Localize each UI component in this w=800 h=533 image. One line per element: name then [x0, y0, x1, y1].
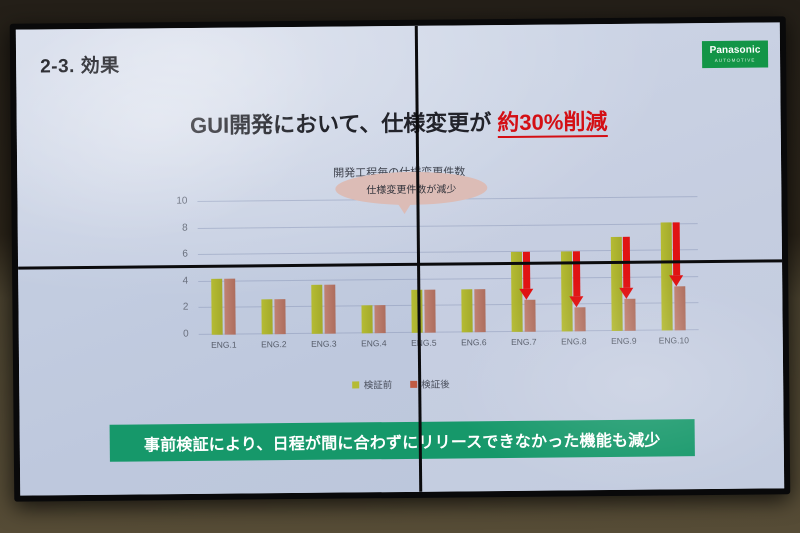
bar-after [574, 307, 585, 331]
bar-before [311, 285, 322, 334]
headline-accent-text: 約30%削減 [497, 109, 607, 138]
bar-after [424, 290, 435, 333]
x-axis-tick-label: ENG.6 [461, 337, 487, 347]
bar-after [374, 305, 385, 333]
legend-label: 検証後 [421, 377, 450, 391]
bar-group: ENG.7 [510, 199, 535, 332]
bar-group: ENG.6 [460, 199, 485, 332]
chart-container: 開発工程毎の仕様変更件数 0246810 ENG.1ENG.2ENG.3ENG.… [17, 160, 783, 417]
x-axis-tick-label: ENG.10 [659, 335, 689, 345]
bar-before [561, 252, 573, 332]
chart-legend: 検証前検証後 [19, 373, 783, 394]
x-axis-tick-label: ENG.9 [611, 336, 637, 346]
legend-item: 検証後 [410, 377, 450, 391]
chart-callout-text: 仕様変更件数が減少 [366, 180, 456, 196]
bar-group: ENG.3 [310, 201, 335, 334]
banner-text: 事前検証により、日程が間に合わずにリリースできなかった機能も減少 [144, 426, 661, 455]
bar-after [524, 300, 535, 332]
y-axis-tick-label: 4 [183, 275, 189, 286]
bar-before [411, 290, 422, 333]
logo-sub-text: AUTOMOTIVE [715, 58, 756, 63]
y-axis-tick-label: 10 [176, 196, 187, 207]
legend-item: 検証前 [353, 377, 393, 391]
logo-brand-text: Panasonic [710, 46, 761, 56]
slide-section-title: 2-3. 効果 [40, 51, 120, 79]
x-axis-tick-label: ENG.1 [211, 340, 237, 350]
bar-after [274, 300, 285, 335]
headline-main-text: GUI開発において、仕様変更が [190, 110, 492, 138]
y-axis-tick-label: 8 [182, 222, 188, 233]
x-axis-tick-label: ENG.8 [561, 336, 587, 346]
bar-before [611, 236, 623, 331]
slide-headline: GUI開発において、仕様変更が約30%削減 [17, 102, 781, 141]
bar-group: ENG.9 [610, 198, 635, 331]
chart-callout-tail [395, 200, 413, 214]
x-axis-tick-label: ENG.5 [411, 338, 437, 348]
x-axis-tick-label: ENG.2 [261, 339, 287, 349]
bar-group: ENG.1 [210, 202, 235, 335]
bar-group: ENG.4 [360, 200, 385, 333]
legend-swatch [410, 380, 417, 387]
y-axis-tick-label: 2 [183, 302, 189, 313]
y-axis-tick-label: 6 [182, 249, 188, 260]
legend-swatch [353, 381, 360, 388]
bar-after [674, 286, 685, 330]
legend-label: 検証前 [364, 377, 393, 391]
bar-after [474, 290, 485, 333]
panasonic-logo: Panasonic AUTOMOTIVE [702, 40, 768, 68]
bar-group: ENG.5 [410, 200, 435, 333]
bar-before [211, 279, 223, 335]
bar-group: ENG.8 [560, 198, 585, 331]
bar-before [361, 305, 372, 333]
x-axis-tick-label: ENG.3 [311, 339, 337, 349]
bar-after [324, 284, 335, 333]
bar-before [661, 223, 673, 331]
bar-after [224, 279, 236, 335]
chart-bar-groups: ENG.1ENG.2ENG.3ENG.4ENG.5ENG.6ENG.7ENG.8… [197, 197, 698, 335]
slide-bottom-banner: 事前検証により、日程が間に合わずにリリースできなかった機能も減少 [110, 419, 695, 462]
bar-group: ENG.10 [660, 197, 685, 330]
x-axis-tick-label: ENG.4 [361, 338, 387, 348]
bar-after [624, 299, 635, 331]
x-axis-tick-label: ENG.7 [511, 337, 537, 347]
presentation-slide: 2-3. 効果 Panasonic AUTOMOTIVE GUI開発において、仕… [16, 22, 784, 495]
bar-before [461, 290, 472, 333]
bar-group: ENG.2 [260, 201, 285, 334]
bar-before [261, 300, 272, 335]
video-wall-screen: 2-3. 効果 Panasonic AUTOMOTIVE GUI開発において、仕… [16, 22, 784, 495]
chart-plot-area: 0246810 ENG.1ENG.2ENG.3ENG.4ENG.5ENG.6EN… [197, 197, 698, 335]
bar-before [511, 252, 523, 332]
y-axis-tick-label: 0 [183, 329, 189, 340]
